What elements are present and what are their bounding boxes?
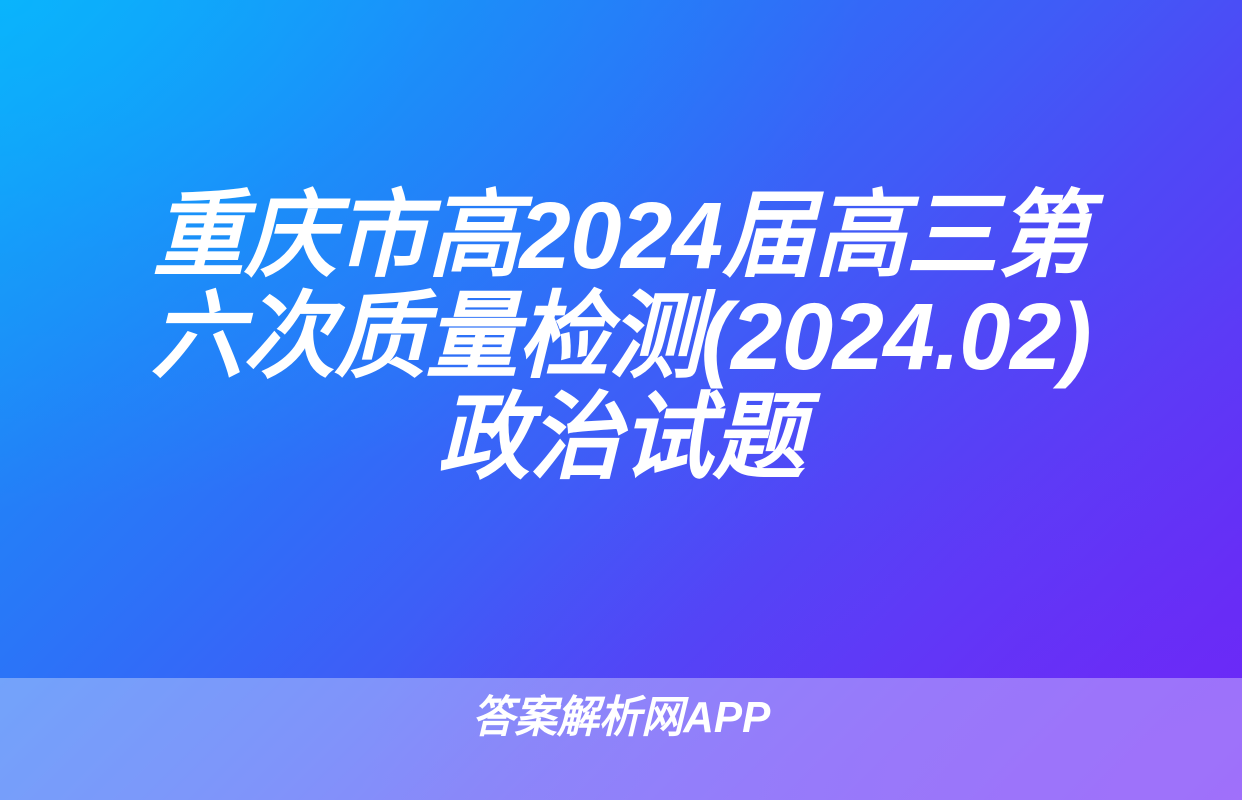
title-line-3: 政治试题 [32,388,1210,489]
poster-title-block: 重庆市高2024届高三第 六次质量检测(2024.02) 政治试题 [0,186,1242,489]
footer-watermark-band: 答案解析网APP [0,678,1242,800]
title-line-1: 重庆市高2024届高三第 [32,186,1210,287]
watermark-brand-label: 答案解析网APP [472,692,770,744]
exam-paper-cover-poster: 重庆市高2024届高三第 六次质量检测(2024.02) 政治试题 答案解析网A… [0,0,1242,800]
title-line-2: 六次质量检测(2024.02) [32,287,1210,388]
